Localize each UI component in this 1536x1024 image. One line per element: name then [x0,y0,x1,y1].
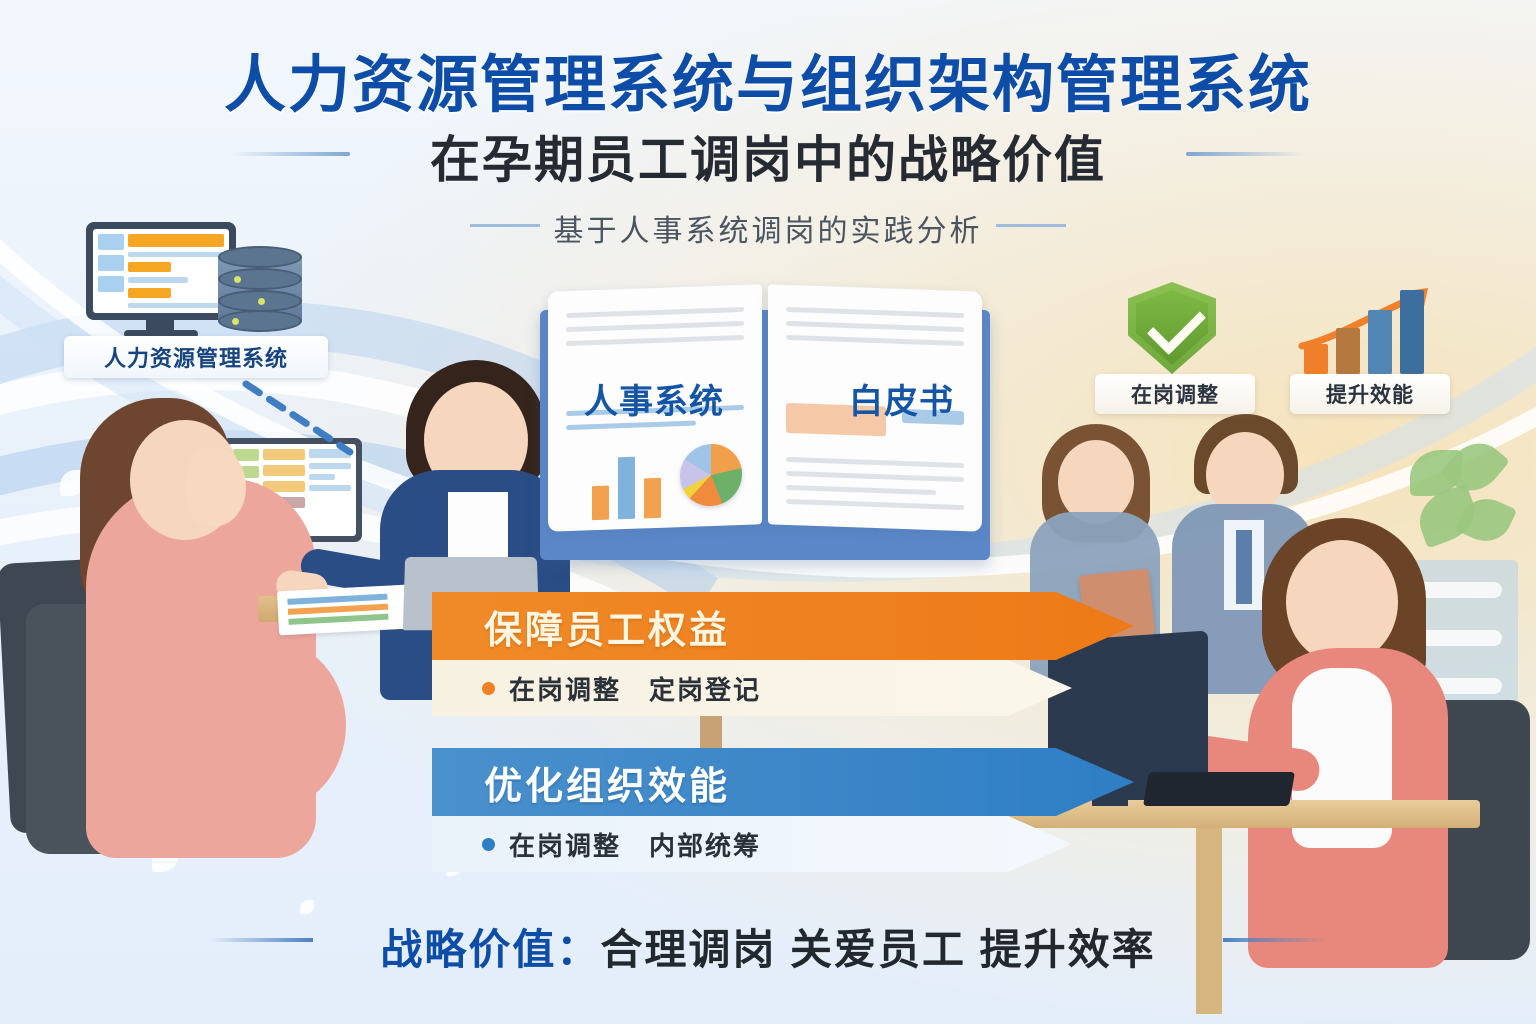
book-title-left: 人事系统 [584,374,724,423]
growth-chart-icon [1296,284,1446,374]
monitor-icon [86,222,236,320]
pregnant-worker-head [1286,540,1398,664]
bullet-icon [482,838,495,851]
bar-chart-icon [592,456,668,521]
colleague-male-tie [1236,530,1252,604]
arrow-head-blue: 优化组织效能 [432,748,1134,816]
white-paper-book: 人事系统 白皮书 [540,282,990,572]
banner-key: 战略价值： [380,926,600,973]
bottom-banner: 战略价值：合理调岗 关爱员工 提升效率 [0,916,1536,977]
pregnant-employee-face [186,448,246,526]
page-subtitle: 在孕期员工调岗中的战略价值 [0,120,1536,192]
arrow-sub-text: 在岗调整 内部统筹 [509,826,761,863]
book-title-right: 白皮书 [849,374,954,423]
arrow-heading-text: 优化组织效能 [432,755,730,810]
keyboard-icon [1143,772,1295,806]
arrow-protect-rights: 保障员工权益 在岗调整 定岗登记 [432,592,1134,716]
arrow-subtext-orange: 在岗调整 定岗登记 [432,660,1072,716]
pie-chart-icon [680,443,742,507]
dashed-connector-icon [238,378,358,458]
infographic-poster: 人力资源管理系统与组织架构管理系统 在孕期员工调岗中的战略价值 基于人事系统调岗… [0,0,1536,1024]
page-title: 人力资源管理系统与组织架构管理系统 [0,34,1536,124]
hrms-label-card: 人力资源管理系统 [64,336,328,378]
hrms-system-icon-group [86,222,316,332]
arrow-head-orange: 保障员工权益 [432,592,1134,660]
bullet-icon [482,682,495,695]
badge-compliance: 在岗调整 [1095,374,1255,414]
banner-value: 合理调岗 关爱员工 提升效率 [600,926,1155,973]
arrow-optimize-org: 优化组织效能 在岗调整 内部统筹 [432,748,1134,872]
pregnant-employee-belly [196,640,346,810]
report-paper [277,585,409,636]
badge-efficiency: 提升效能 [1290,374,1450,414]
arrow-subtext-blue: 在岗调整 内部统筹 [432,816,1072,872]
arrow-sub-text: 在岗调整 定岗登记 [509,670,761,707]
database-icon [218,246,302,332]
arrow-heading-text: 保障员工权益 [432,599,730,654]
